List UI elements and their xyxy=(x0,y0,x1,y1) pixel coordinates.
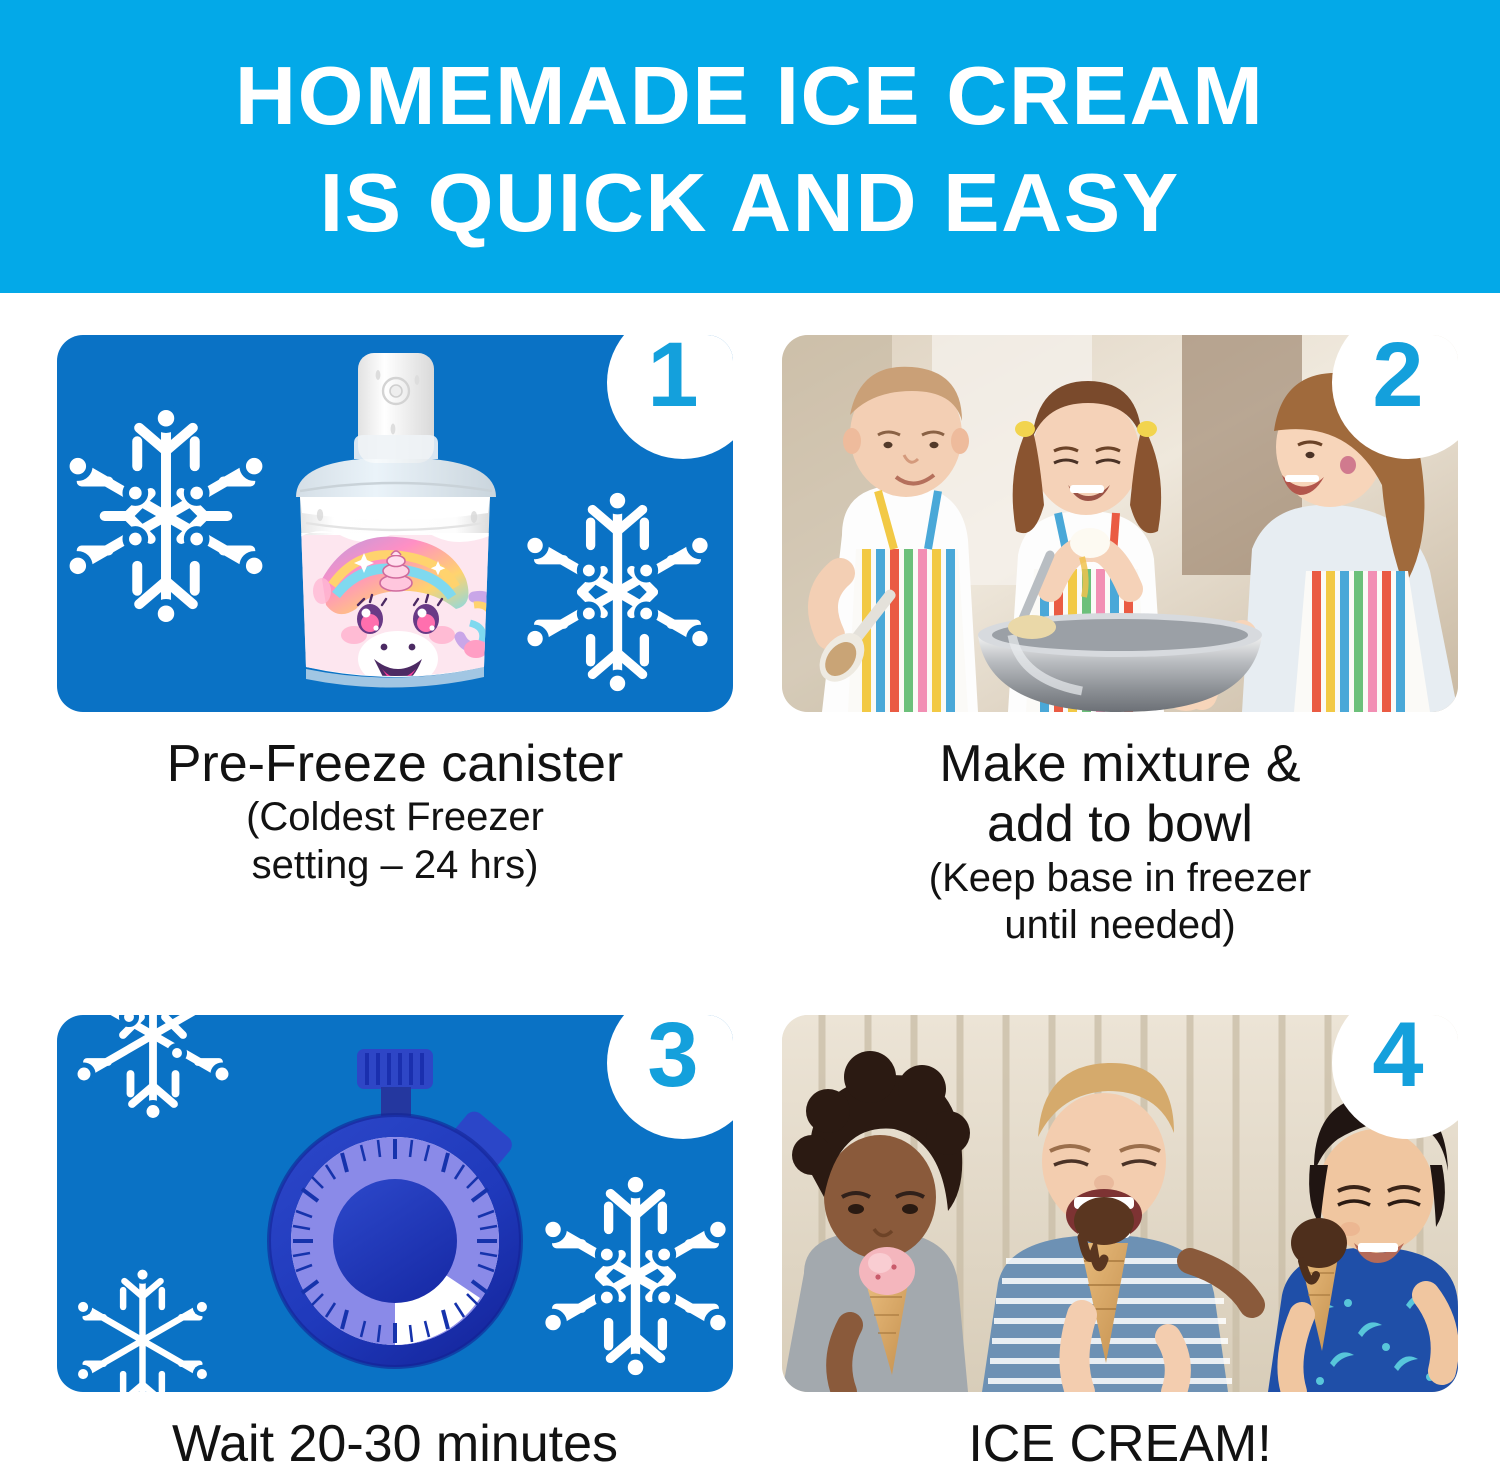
step-2: 2 Make mixture & add to bowl (Keep base … xyxy=(782,335,1458,949)
step-3-caption-main: Wait 20-30 minutes xyxy=(57,1414,733,1466)
step-4-panel: 4 xyxy=(782,1015,1458,1392)
step-2-caption-sub-line-1: (Keep base in freezer xyxy=(782,855,1458,902)
step-3-panel: 3 xyxy=(57,1015,733,1392)
step-number: 4 xyxy=(1372,1015,1423,1101)
step-2-caption-main-line-2: add to bowl xyxy=(782,794,1458,854)
step-4-caption-main: ICE CREAM! xyxy=(782,1414,1458,1466)
infographic-page: HOMEMADE ICE CREAM IS QUICK AND EASY xyxy=(0,0,1500,1466)
snowflake-icon xyxy=(510,442,725,712)
step-number: 2 xyxy=(1372,335,1423,421)
step-1-caption-sub-line-2: setting – 24 hrs) xyxy=(57,842,733,889)
step-number: 1 xyxy=(647,335,698,421)
snowflake-icon xyxy=(528,1136,733,1392)
snowflake-icon xyxy=(57,351,281,681)
step-2-panel: 2 xyxy=(782,335,1458,712)
step-1-panel: 1 xyxy=(57,335,733,712)
step-number: 3 xyxy=(647,1015,698,1101)
step-badge-3: 3 xyxy=(607,1015,733,1139)
step-2-caption: Make mixture & add to bowl (Keep base in… xyxy=(782,712,1458,949)
step-badge-1: 1 xyxy=(607,335,733,459)
step-3-caption: Wait 20-30 minutes xyxy=(57,1392,733,1466)
unicorn-ice-cream-maker-canister xyxy=(260,347,530,702)
step-4: 4 ICE CREAM! xyxy=(782,1015,1458,1466)
snowflake-icon xyxy=(65,1263,220,1392)
step-1: 1 Pre-Freeze canister (Coldest Freezer s… xyxy=(57,335,733,889)
step-1-caption: Pre-Freeze canister (Coldest Freezer set… xyxy=(57,712,733,889)
step-2-caption-main-line-1: Make mixture & xyxy=(782,734,1458,794)
header-title-line-1: HOMEMADE ICE CREAM xyxy=(235,43,1264,149)
step-3: 3 Wait 20-30 minutes xyxy=(57,1015,733,1466)
snowflake-icon xyxy=(63,1015,243,1125)
stopwatch-icon xyxy=(245,1033,545,1378)
step-1-caption-sub-line-1: (Coldest Freezer xyxy=(57,794,733,841)
step-1-caption-main: Pre-Freeze canister xyxy=(57,734,733,794)
header-banner: HOMEMADE ICE CREAM IS QUICK AND EASY xyxy=(0,0,1500,293)
header-title-line-2: IS QUICK AND EASY xyxy=(320,150,1180,256)
steps-grid: 1 Pre-Freeze canister (Coldest Freezer s… xyxy=(0,293,1500,1466)
step-2-caption-sub-line-2: until needed) xyxy=(782,902,1458,949)
step-4-caption: ICE CREAM! xyxy=(782,1392,1458,1466)
